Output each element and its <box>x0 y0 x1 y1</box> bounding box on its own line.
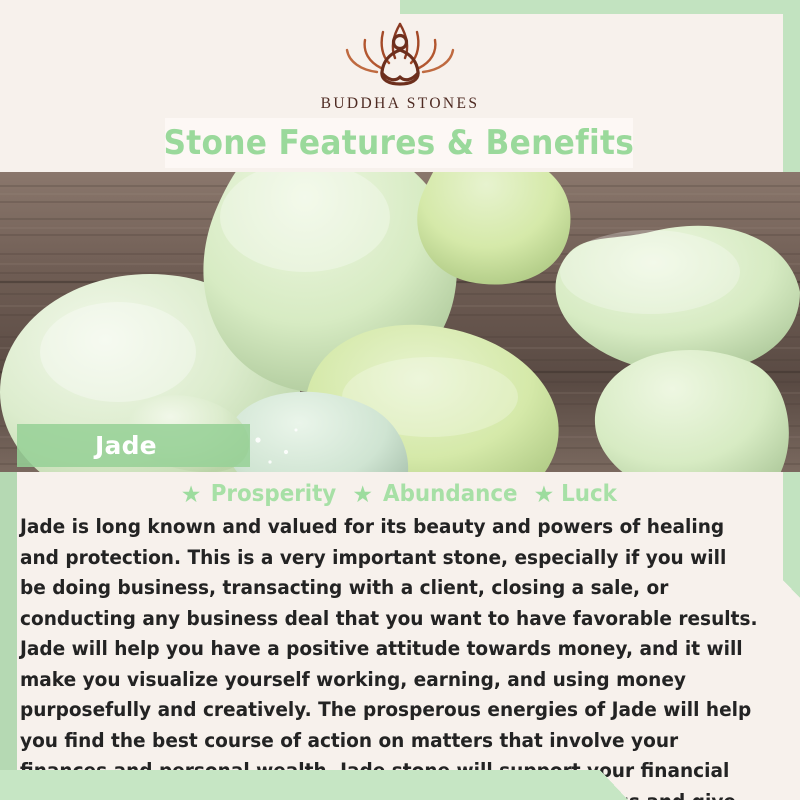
page-title-band: Stone Features & Benefits <box>165 118 633 168</box>
star-icon: ★ <box>181 483 202 506</box>
stone-name: Jade <box>95 431 157 460</box>
brand-name: BUDDHA STONES <box>321 95 480 113</box>
lotus-meditation-icon <box>325 18 475 92</box>
benefit-item-prosperity: ★ Prosperity <box>181 481 342 507</box>
benefits-list: ★ Prosperity ★ Abundance ★ Luck <box>17 478 783 510</box>
decorative-bar-right-tip <box>783 580 800 598</box>
benefit-label: Prosperity <box>211 481 337 507</box>
decorative-bar-bottom-tip <box>600 770 628 800</box>
stone-name-badge: Jade <box>17 424 250 467</box>
page-title: Stone Features & Benefits <box>164 123 635 163</box>
benefit-label: Luck <box>561 481 617 507</box>
decorative-bar-bottom <box>0 770 600 800</box>
benefit-item-luck: ★ Luck <box>534 481 620 507</box>
benefit-item-abundance: ★ Abundance <box>352 481 522 507</box>
star-icon: ★ <box>534 483 555 506</box>
stone-description: Jade is long known and valued for its be… <box>20 512 758 800</box>
brand-logo: BUDDHA STONES <box>0 18 800 118</box>
decorative-bar-top-right <box>400 0 800 14</box>
benefit-label: Abundance <box>383 481 517 507</box>
stone-info-poster: BUDDHA STONES Stone Features & Benefits <box>0 0 800 800</box>
star-icon: ★ <box>352 483 373 506</box>
